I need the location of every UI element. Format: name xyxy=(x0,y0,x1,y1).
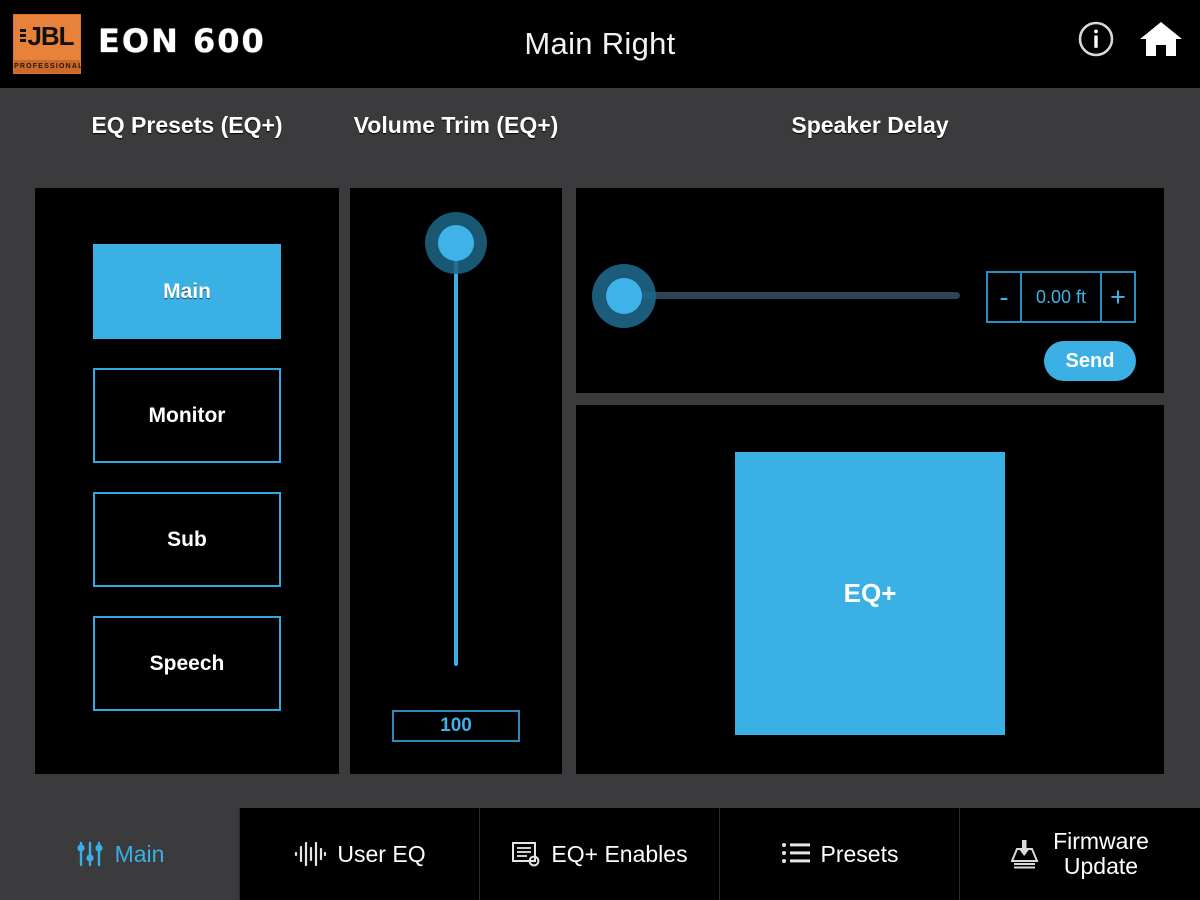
info-circle-icon[interactable] xyxy=(1076,19,1116,59)
eq-presets-title: EQ Presets (EQ+) xyxy=(35,112,339,139)
jbl-logo-mark: JBL xyxy=(20,15,73,60)
waveform-icon xyxy=(293,840,327,868)
tab-user-eq[interactable]: User EQ xyxy=(240,808,480,900)
header-actions xyxy=(1076,18,1184,60)
volume-trim-value-input[interactable]: 100 xyxy=(392,710,520,742)
app-header: JBL PROFESSIONAL EON 600 Main Right xyxy=(0,0,1200,88)
jbl-logo-text: JBL xyxy=(27,21,73,52)
volume-slider-thumb[interactable] xyxy=(438,225,474,261)
volume-slider-track xyxy=(454,246,458,666)
product-model-label: EON 600 xyxy=(98,22,266,60)
tab-main-label: Main xyxy=(115,842,165,867)
tab-presets-label: Presets xyxy=(821,842,899,867)
eq-plus-toggle-button[interactable]: EQ+ xyxy=(735,452,1005,735)
tab-user-eq-label: User EQ xyxy=(337,842,425,867)
delay-decrement-button[interactable]: - xyxy=(988,273,1022,321)
volume-trim-slider[interactable] xyxy=(350,188,562,774)
preset-button-speech[interactable]: Speech xyxy=(93,616,281,711)
section-titles: EQ Presets (EQ+) Volume Trim (EQ+) Speak… xyxy=(0,88,1200,186)
eq-presets-list: Main Monitor Sub Speech xyxy=(93,244,281,711)
list-settings-icon xyxy=(511,840,541,868)
tab-firmware-update-label: Firmware Update xyxy=(1053,829,1149,879)
home-icon[interactable] xyxy=(1138,18,1184,60)
eq-presets-panel: Main Monitor Sub Speech xyxy=(35,188,339,774)
tab-main[interactable]: Main xyxy=(0,808,240,900)
jbl-professional-label: PROFESSIONAL xyxy=(14,60,80,73)
sliders-icon xyxy=(75,839,105,869)
delay-stepper: - 0.00 ft + xyxy=(986,271,1136,323)
tab-firmware-update[interactable]: Firmware Update xyxy=(960,808,1200,900)
delay-value-input[interactable]: 0.00 ft xyxy=(1022,273,1100,321)
bottom-tab-bar: Main User EQ xyxy=(0,808,1200,900)
speaker-delay-title: Speaker Delay xyxy=(576,112,1164,139)
volume-trim-panel: 100 xyxy=(350,188,562,774)
preset-button-monitor[interactable]: Monitor xyxy=(93,368,281,463)
app-root: JBL PROFESSIONAL EON 600 Main Right EQ xyxy=(0,0,1200,900)
delay-slider-track[interactable] xyxy=(630,292,960,299)
tab-eq-plus-enables-label: EQ+ Enables xyxy=(551,842,687,867)
jbl-logo: JBL PROFESSIONAL xyxy=(13,14,81,74)
preset-button-main[interactable]: Main xyxy=(93,244,281,339)
jbl-logo-bars xyxy=(20,29,26,44)
delay-increment-button[interactable]: + xyxy=(1100,273,1134,321)
send-button[interactable]: Send xyxy=(1044,341,1136,381)
volume-trim-title: Volume Trim (EQ+) xyxy=(350,112,562,139)
download-tray-icon xyxy=(1011,838,1043,870)
delay-slider-thumb[interactable] xyxy=(606,278,642,314)
preset-button-sub[interactable]: Sub xyxy=(93,492,281,587)
list-icon xyxy=(781,841,811,867)
tab-eq-plus-enables[interactable]: EQ+ Enables xyxy=(480,808,720,900)
tab-presets[interactable]: Presets xyxy=(720,808,960,900)
